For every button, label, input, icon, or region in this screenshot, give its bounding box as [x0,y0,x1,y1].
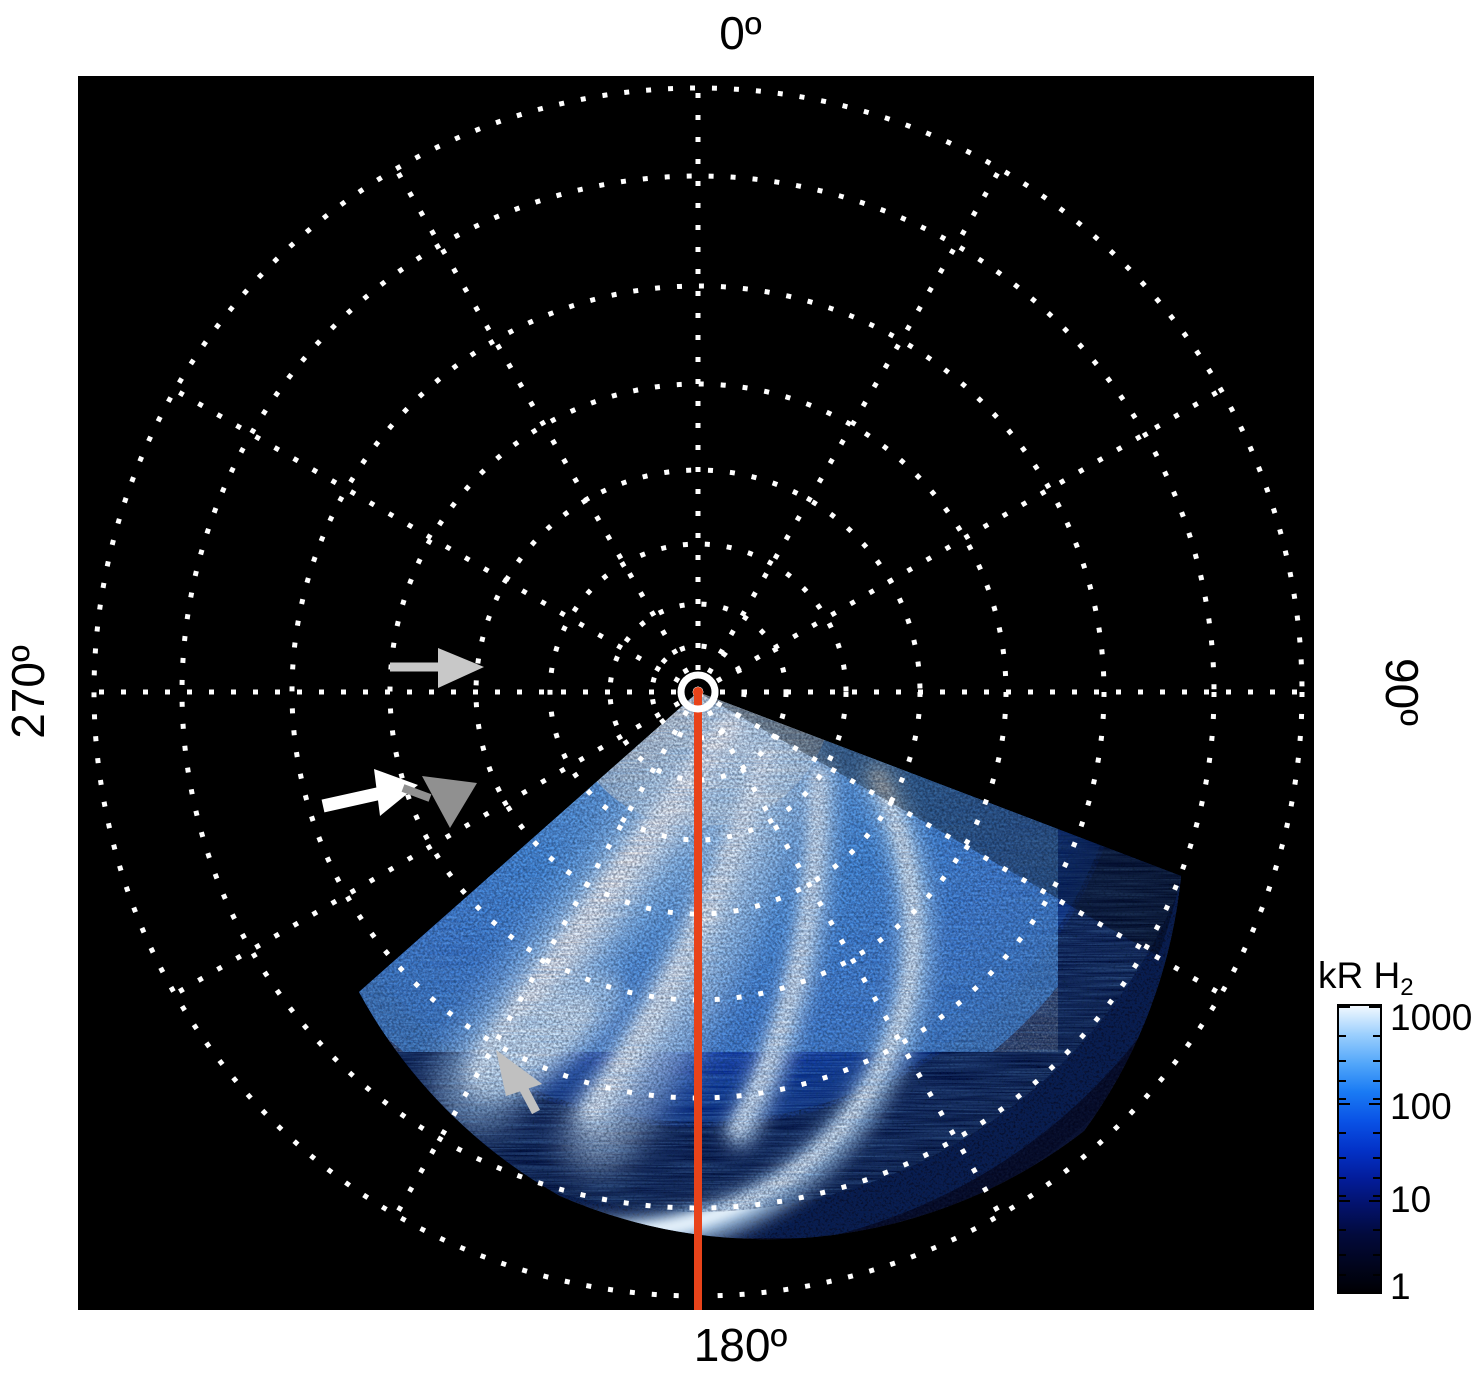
colorbar-gradient [1337,1004,1382,1294]
colorbar-tick-label-10: 10 [1390,1179,1431,1221]
colorbar-tick-label-100: 100 [1390,1086,1452,1128]
axis-label-bottom: 180º [0,1318,1481,1372]
polar-plot-area [78,76,1314,1310]
colorbar-title-main: kR H [1318,955,1400,996]
colorbar-tick-label-1000: 1000 [1390,997,1472,1039]
colorbar-tick-label-1: 1 [1390,1266,1411,1308]
colorbar-title: kR H2 [1318,955,1414,997]
axis-label-top: 0º [0,6,1481,60]
pole-marker-dot [693,687,703,697]
polar-plot-svg [78,76,1314,1310]
colorbar: kR H2 1000 100 10 1 [1318,955,1481,1325]
axis-label-left: 270º [1,612,55,772]
axis-label-right: 90º [1375,612,1429,772]
